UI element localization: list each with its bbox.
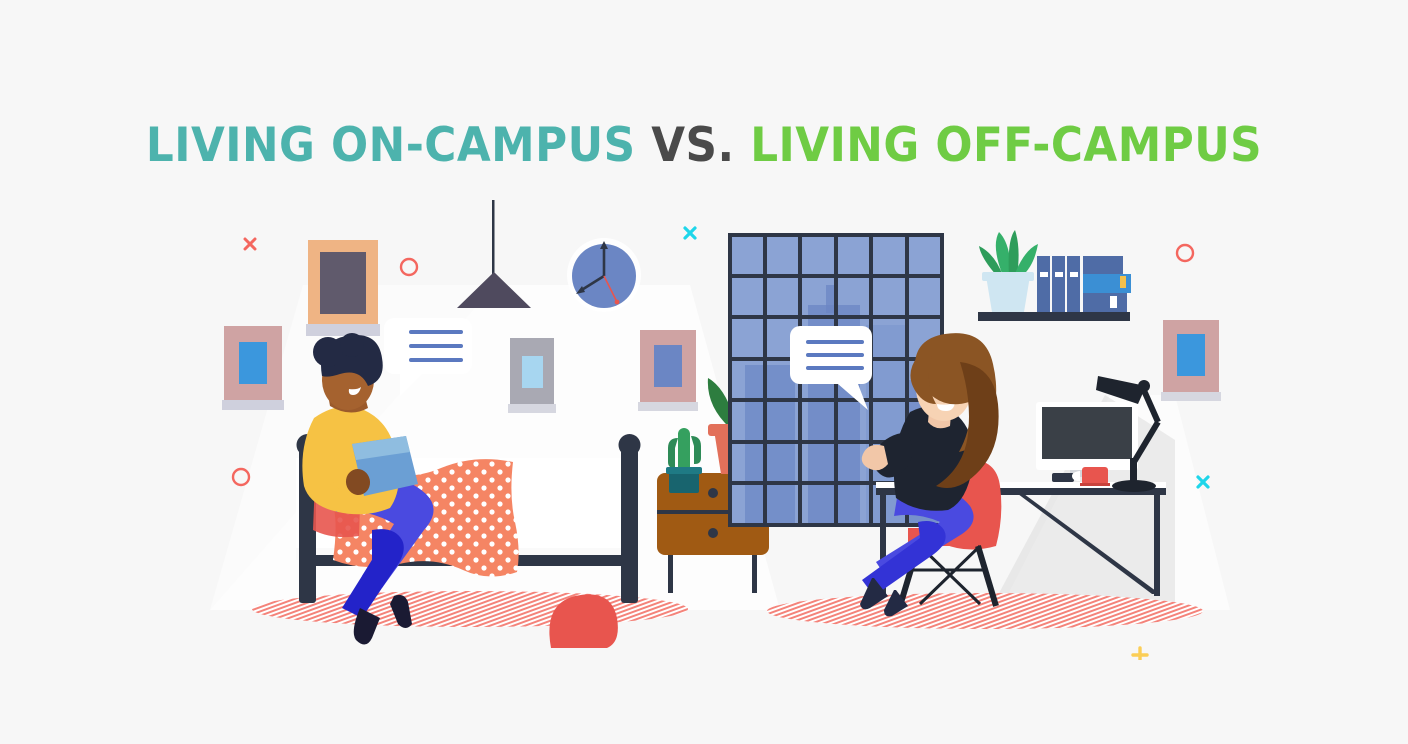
plus-mark-yellow (1133, 648, 1147, 660)
shelf-plant (979, 230, 1038, 312)
circle-outline-red-upper-left (401, 259, 417, 275)
scene-illustration (0, 190, 1408, 660)
picture-frame-rose-right (638, 330, 698, 411)
page-title: LIVING ON-CAMPUS VS. LIVING OFF-CAMPUS (49, 122, 1358, 169)
title-off-campus: LIVING OFF-CAMPUS (750, 122, 1262, 169)
standing-books (1037, 256, 1080, 312)
picture-frame-gray (508, 338, 556, 413)
cross-mark-cyan-right (1198, 477, 1208, 487)
illustration-canvas: LIVING ON-CAMPUS VS. LIVING OFF-CAMPUS (0, 0, 1408, 744)
picture-frame-orange (306, 240, 380, 336)
stacked-books (1083, 256, 1131, 312)
cross-mark-cyan-top (685, 228, 695, 238)
picture-frame-rose-far-right (1161, 320, 1221, 401)
striped-oval-rug-right (767, 593, 1203, 629)
wall-clock (567, 238, 641, 312)
wall-shelf (978, 230, 1131, 321)
circle-outline-red-right (1177, 245, 1193, 261)
picture-frame-rose-left (222, 326, 284, 410)
circle-outline-red-lower-left (233, 469, 249, 485)
cross-mark-red-left (245, 239, 255, 249)
title-vs: VS. (651, 122, 734, 169)
title-on-campus: LIVING ON-CAMPUS (146, 122, 636, 169)
